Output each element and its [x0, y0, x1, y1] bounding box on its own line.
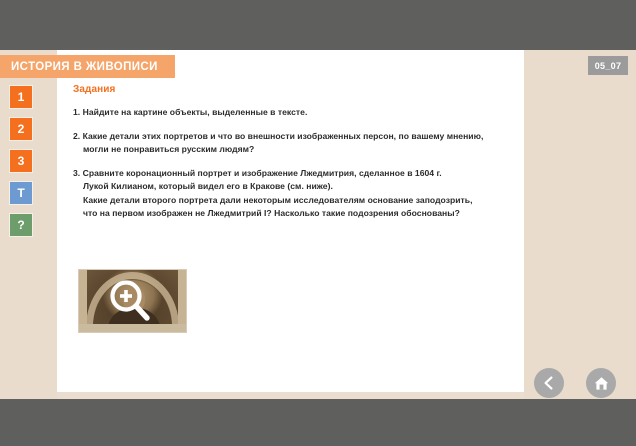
- rail-button-help[interactable]: ?: [10, 214, 32, 236]
- rail-button-1-label: 1: [18, 90, 25, 104]
- rail-button-group: 1 2 3 T ?: [10, 86, 32, 246]
- home-icon: [593, 375, 610, 392]
- task-item: 3. Сравните коронационный портрет и изоб…: [73, 167, 513, 221]
- title-banner: ИСТОРИЯ В ЖИВОПИСИ: [0, 55, 175, 78]
- task-item: 2. Какие детали этих портретов и что во …: [73, 130, 513, 157]
- task-item: 1. Найдите на картине объекты, выделенны…: [73, 106, 513, 120]
- back-button[interactable]: [534, 368, 564, 398]
- top-chrome-bar: [0, 0, 636, 50]
- task-line: Какие детали второго портрета дали некот…: [73, 194, 513, 208]
- rail-button-text[interactable]: T: [10, 182, 32, 204]
- chevron-left-icon: [541, 375, 557, 391]
- task-line: 3. Сравните коронационный портрет и изоб…: [73, 167, 513, 181]
- portrait-frame-left: [79, 270, 87, 332]
- slide-navigation: [534, 368, 616, 398]
- task-line: могли не понравиться русским людям?: [73, 143, 513, 157]
- task-line: что на первом изображен не Лжедмитрий I?…: [73, 207, 513, 221]
- tasks-block: Задания 1. Найдите на картине объекты, в…: [73, 84, 513, 231]
- page-title: ИСТОРИЯ В ЖИВОПИСИ: [11, 61, 158, 73]
- content-body-layer: Задания 1. Найдите на картине объекты, в…: [57, 50, 524, 392]
- rail-button-2-label: 2: [18, 122, 25, 136]
- portrait-thumbnail[interactable]: [78, 269, 187, 333]
- rail-button-help-label: ?: [17, 218, 24, 232]
- home-button[interactable]: [586, 368, 616, 398]
- rail-button-3-label: 3: [18, 154, 25, 168]
- app-window: ИСТОРИЯ В ЖИВОПИСИ 1 2 3 T ? Задания: [0, 0, 636, 446]
- rail-button-1[interactable]: 1: [10, 86, 32, 108]
- rail-button-2[interactable]: 2: [10, 118, 32, 140]
- task-line: 1. Найдите на картине объекты, выделенны…: [73, 106, 513, 120]
- page-number-badge: 05_07: [588, 56, 628, 75]
- portrait-frame-right: [178, 270, 186, 332]
- task-line: Лукой Килианом, который видел его в Крак…: [73, 180, 513, 194]
- right-rail: [524, 50, 636, 399]
- bottom-chrome-bar: [0, 399, 636, 446]
- portrait-thumbnail-image: [79, 270, 186, 332]
- task-line: 2. Какие детали этих портретов и что во …: [73, 130, 513, 144]
- rail-button-3[interactable]: 3: [10, 150, 32, 172]
- slide-stage: ИСТОРИЯ В ЖИВОПИСИ 1 2 3 T ? Задания: [0, 50, 636, 399]
- rail-button-text-label: T: [17, 186, 24, 200]
- tasks-heading: Задания: [73, 84, 513, 95]
- portrait-caption-strip: [79, 324, 186, 332]
